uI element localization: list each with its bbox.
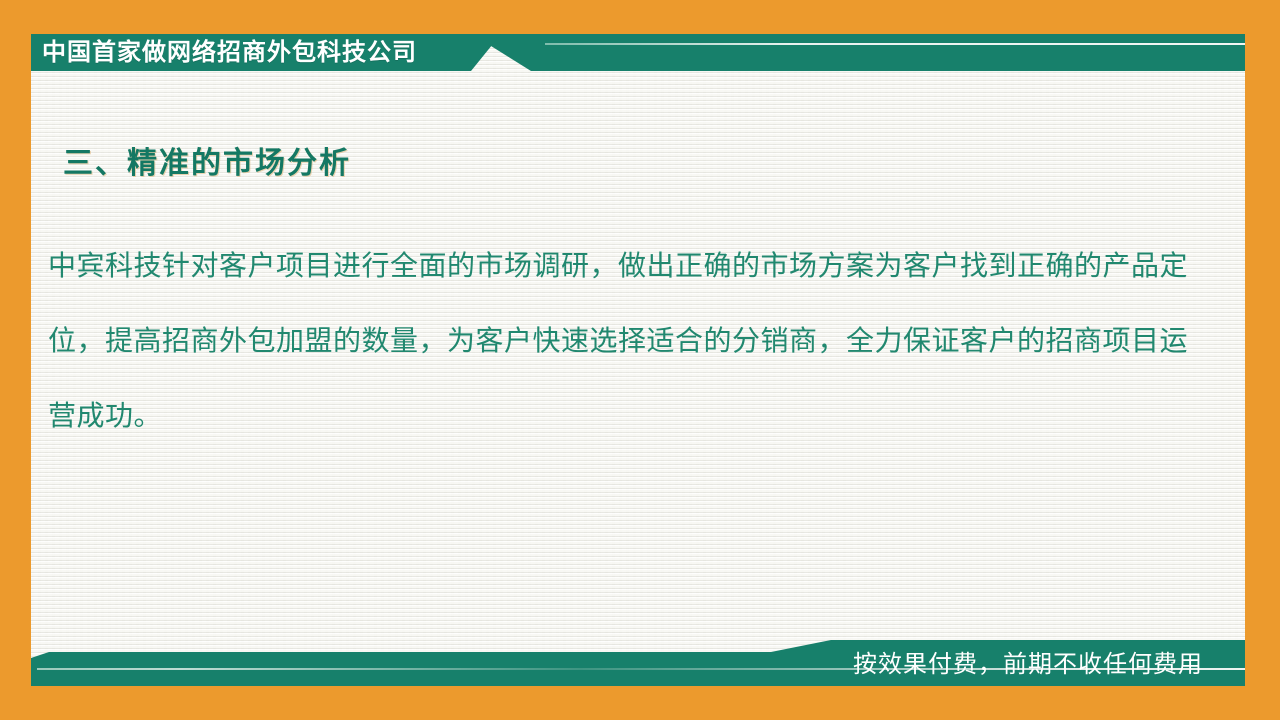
slide-canvas: 中国首家做网络招商外包科技公司 三、精准的市场分析 中宾科技针对客户项目进行全面… (0, 0, 1280, 720)
footer-slogan: 按效果付费，前期不收任何费用 (0, 640, 1231, 686)
header-hairline-decoration (545, 43, 1245, 45)
company-tagline-title: 中国首家做网络招商外包科技公司 (42, 34, 417, 71)
body-paragraph: 中宾科技针对客户项目进行全面的市场调研，做出正确的市场方案为客户找到正确的产品定… (48, 228, 1188, 453)
section-heading: 三、精准的市场分析 (63, 138, 351, 182)
